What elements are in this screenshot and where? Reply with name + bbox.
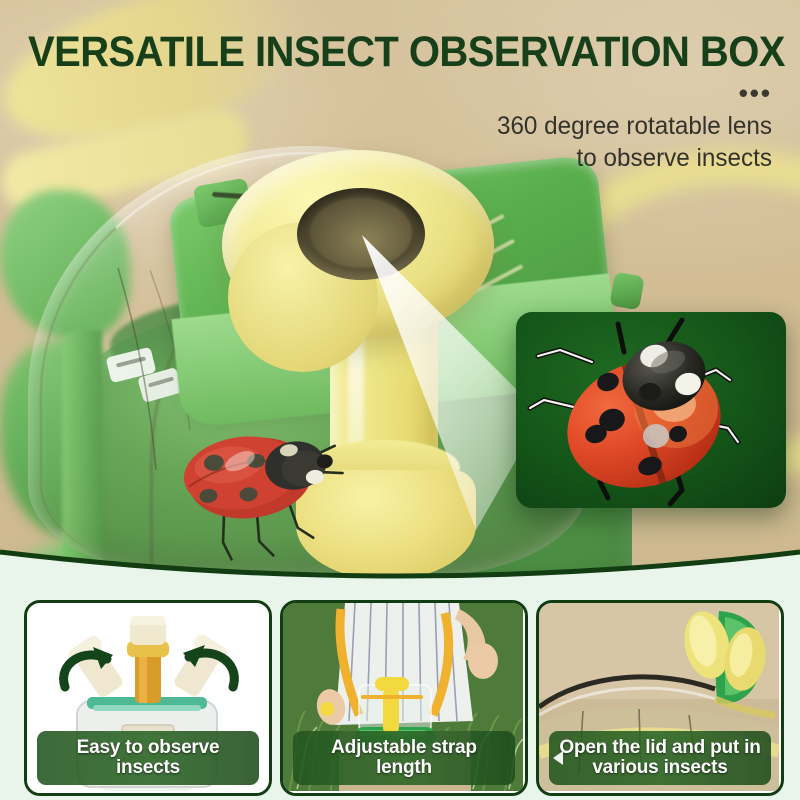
ladybug-magnified (516, 312, 786, 508)
card-caption: Easy to observe insects (37, 731, 259, 785)
subtitle-line-2: to observe insects (345, 142, 772, 174)
ellipsis-marker: ••• (739, 80, 772, 106)
card-caption-line-2: various insects (592, 757, 727, 778)
card-caption-line-1: Open the lid and put in (559, 737, 760, 758)
magnified-inset-panel (516, 312, 786, 508)
feature-cards-strip: Easy to observe insects (0, 596, 800, 800)
caption-arrow-icon (553, 751, 563, 765)
card-caption: Open the lid and put in various insects (549, 731, 771, 785)
card-caption-line-2: insects (116, 757, 180, 778)
card-caption-line-1: Easy to observe (77, 737, 220, 758)
subtitle: 360 degree rotatable lens to observe ins… (345, 110, 772, 174)
feature-card-strap[interactable]: Adjustable strap length (280, 600, 528, 796)
card-caption-line-1: Adjustable strap (331, 737, 477, 758)
hero-section (0, 0, 800, 600)
card-caption: Adjustable strap length (293, 731, 515, 785)
subtitle-line-1: 360 degree rotatable lens (345, 110, 772, 142)
feature-card-lid[interactable]: Open the lid and put in various insects (536, 600, 784, 796)
card-caption-line-2: length (376, 757, 432, 778)
feature-card-observe[interactable]: Easy to observe insects (24, 600, 272, 796)
product-marketing-image: VERSATILE INSECT OBSERVATION BOX ••• 360… (0, 0, 800, 800)
page-title: VERSATILE INSECT OBSERVATION BOX (28, 28, 772, 77)
ladybug-in-box (0, 0, 800, 600)
